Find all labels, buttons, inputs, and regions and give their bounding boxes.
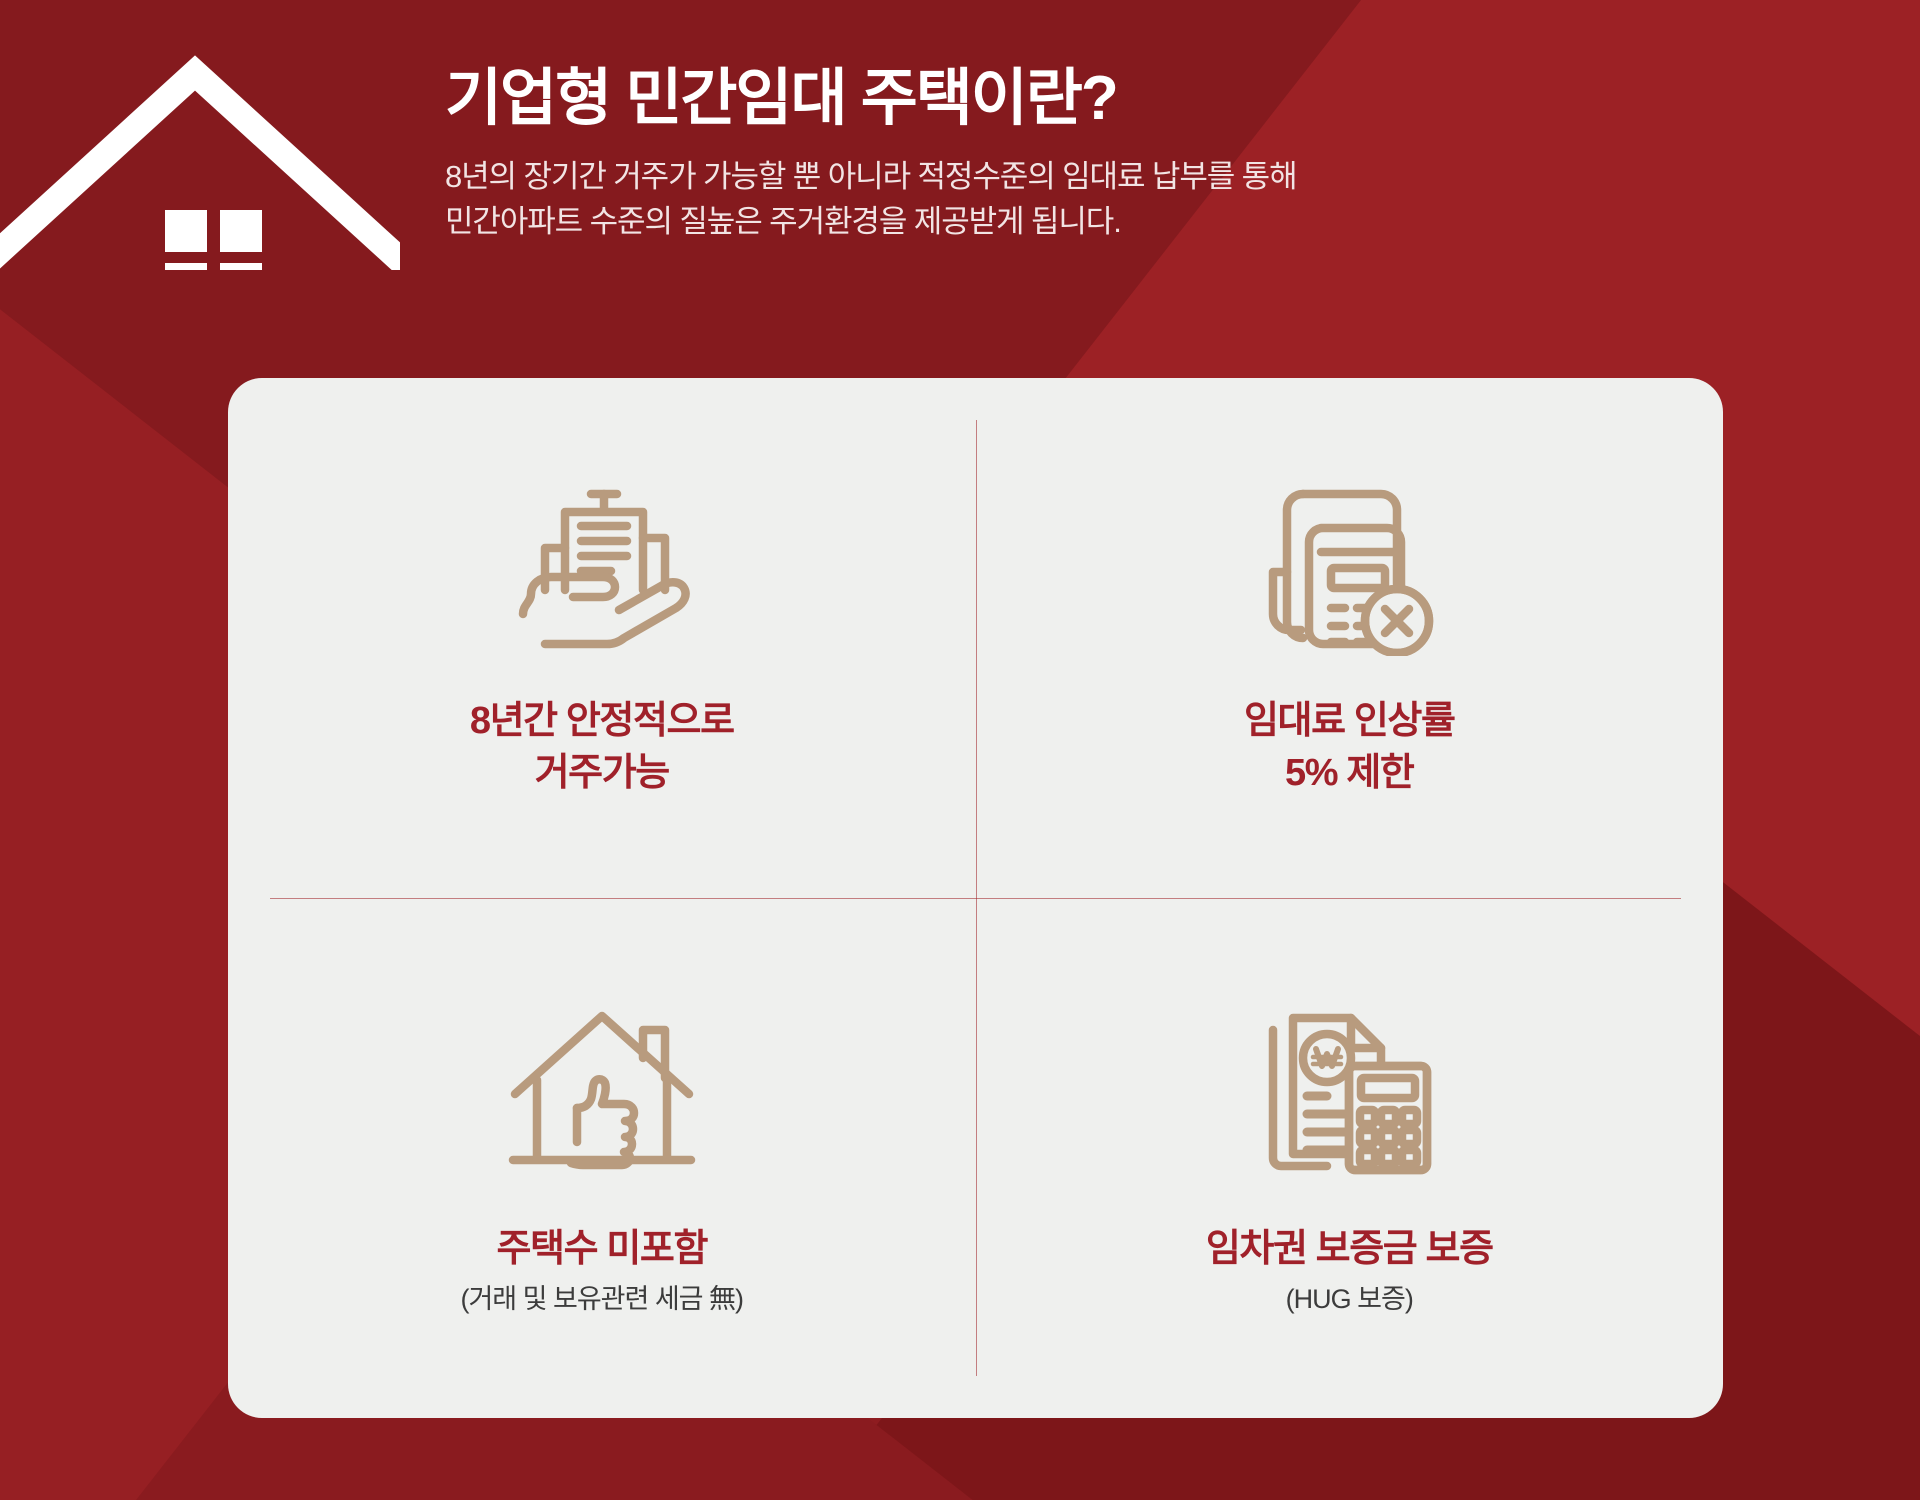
feature-title: 주택수 미포함 [496, 1223, 707, 1275]
subtitle-line-1: 8년의 장기간 거주가 가능할 뿐 아니라 적정수준의 임대료 납부를 통해 [445, 155, 1685, 200]
feature-item-rent-increase-cap: 임대료 인상률 5% 제한 [976, 378, 1724, 898]
document-won-calculator-icon [1259, 999, 1439, 1189]
house-roof-windows-icon [0, 55, 400, 270]
feature-item-stable-residence: 8년간 안정적으로 거주가능 [228, 378, 976, 898]
feature-title: 임대료 인상률 5% 제한 [1244, 695, 1455, 800]
feature-title: 임차권 보증금 보증 [1206, 1223, 1493, 1275]
header: 기업형 민간임대 주택이란? 8년의 장기간 거주가 가능할 뿐 아니라 적정수… [0, 0, 1920, 300]
subtitle-line-2: 민간아파트 수준의 질높은 주거환경을 제공받게 됩니다. [445, 200, 1685, 245]
feature-title: 8년간 안정적으로 거주가능 [470, 695, 734, 800]
feature-card: 8년간 안정적으로 거주가능 [228, 378, 1723, 1418]
feature-subtitle: (거래 및 보유관련 세금 無) [460, 1281, 743, 1317]
header-text-block: 기업형 민간임대 주택이란? 8년의 장기간 거주가 가능할 뿐 아니라 적정수… [445, 62, 1685, 245]
receipt-no-increase-icon [1259, 471, 1439, 661]
house-thumbs-up-icon [507, 999, 697, 1189]
grid-divider-horizontal [270, 898, 1681, 899]
hand-holding-building-icon [507, 471, 697, 661]
page-subtitle: 8년의 장기간 거주가 가능할 뿐 아니라 적정수준의 임대료 납부를 통해 민… [445, 155, 1685, 245]
feature-item-deposit-guarantee: 임차권 보증금 보증 (HUG 보증) [976, 898, 1724, 1418]
page-title: 기업형 민간임대 주택이란? [445, 62, 1685, 135]
feature-subtitle: (HUG 보증) [1286, 1281, 1413, 1317]
feature-item-not-counted-as-house: 주택수 미포함 (거래 및 보유관련 세금 無) [228, 898, 976, 1418]
